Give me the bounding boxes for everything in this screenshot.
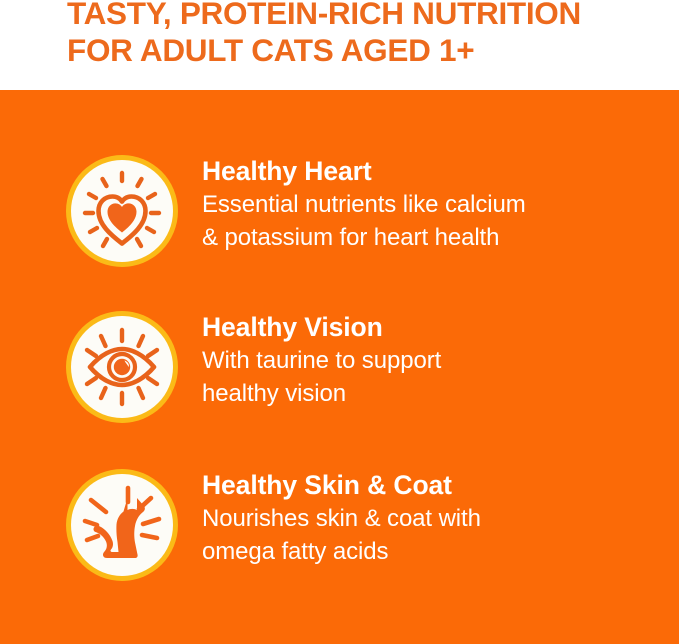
feature-title: Healthy Heart: [202, 155, 662, 188]
eye-pupil: [114, 359, 130, 375]
feature-description: Nourishes skin & coat with omega fatty a…: [202, 502, 662, 568]
heart-rays-icon: [66, 155, 178, 267]
feature-title: Healthy Skin & Coat: [202, 469, 662, 502]
feature-description: Essential nutrients like calcium & potas…: [202, 188, 662, 254]
features-panel: Healthy Heart Essential nutrients like c…: [0, 90, 679, 644]
eye-rays-icon: [66, 311, 178, 423]
cat-rays-icon: [66, 469, 178, 581]
heart-inner-fill: [108, 203, 137, 232]
heart-rays-glyph: [71, 160, 173, 262]
cat-rays-glyph: [71, 474, 173, 576]
feature-description: With taurine to support healthy vision: [202, 344, 662, 410]
feature-title: Healthy Vision: [202, 311, 662, 344]
feature-text: Healthy Heart Essential nutrients like c…: [202, 155, 662, 254]
page-title: TASTY, PROTEIN-RICH NUTRITION FOR ADULT …: [67, 0, 667, 69]
product-feature-panel: TASTY, PROTEIN-RICH NUTRITION FOR ADULT …: [0, 0, 679, 644]
header-band: TASTY, PROTEIN-RICH NUTRITION FOR ADULT …: [0, 0, 679, 90]
feature-text: Healthy Vision With taurine to support h…: [202, 311, 662, 410]
feature-text: Healthy Skin & Coat Nourishes skin & coa…: [202, 469, 662, 568]
eye-rays-glyph: [71, 316, 173, 418]
